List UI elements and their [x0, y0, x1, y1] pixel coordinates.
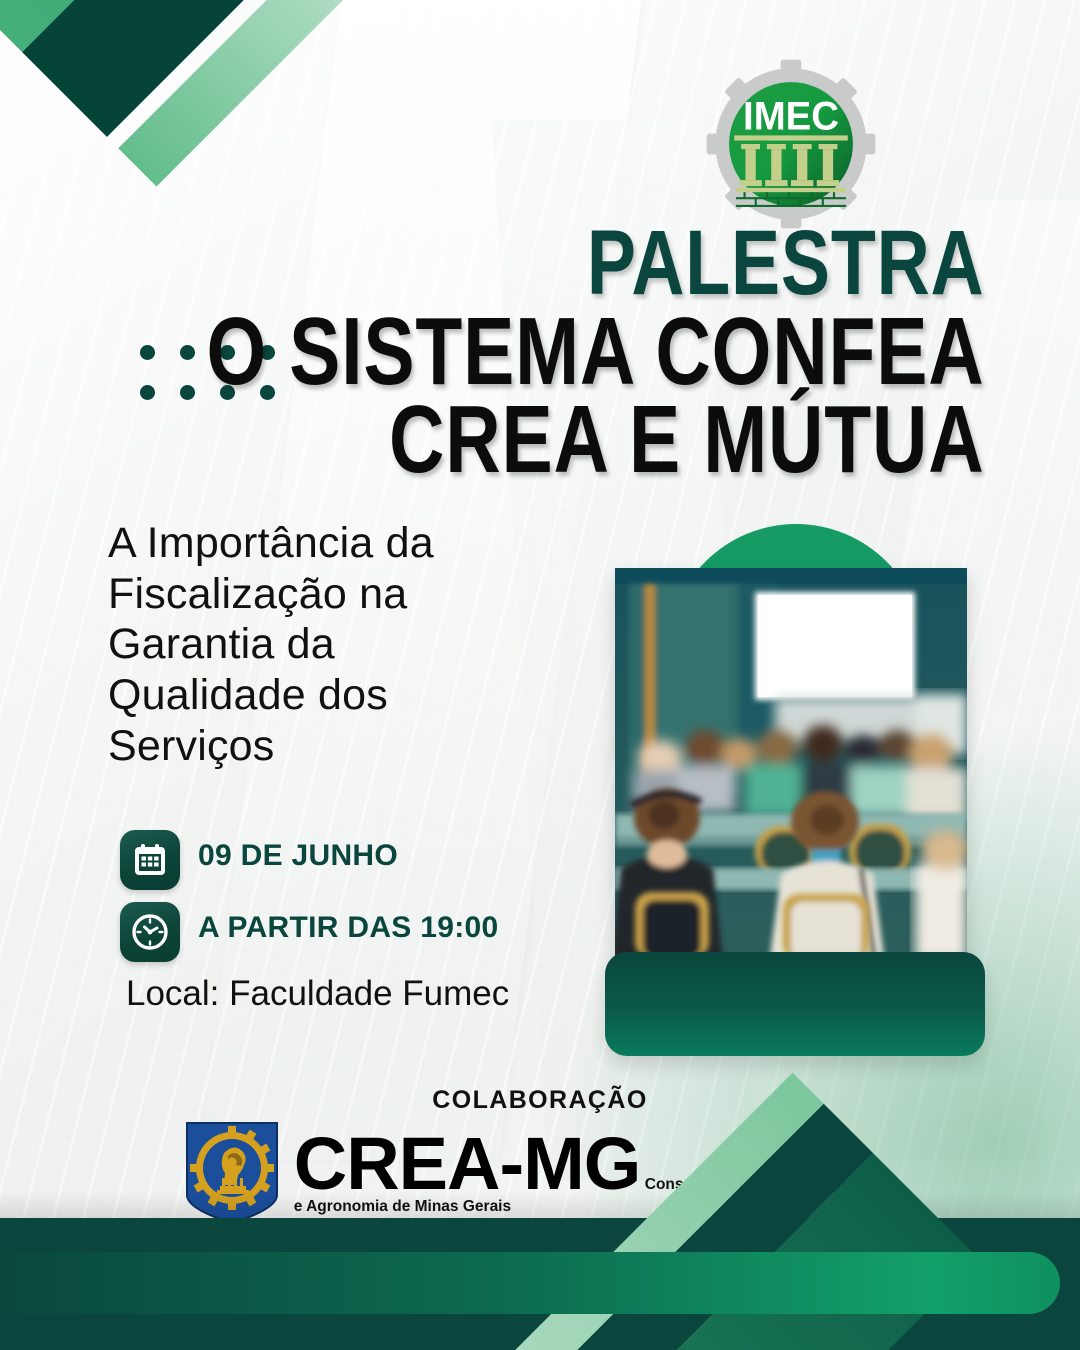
event-subtitle: A Importância da Fiscalização na Garanti… — [108, 518, 538, 772]
poster-canvas: IMEC PALESTRA O SISTEMA CONFEA C — [0, 0, 1080, 1350]
event-time-text: A PARTIR DAS 19:00 — [198, 902, 498, 945]
photo-green-bar — [605, 952, 985, 1056]
bottom-green-bar — [0, 1252, 1060, 1314]
headline-line-1: PALESTRA — [206, 222, 984, 305]
headline-line-2: O SISTEMA CONFEA — [206, 309, 984, 395]
event-date-row: 09 DE JUNHO — [120, 830, 509, 890]
calendar-icon — [120, 830, 180, 890]
event-time-row: A PARTIR DAS 19:00 — [120, 902, 509, 962]
collaboration-label: COLABORAÇÃO — [0, 1086, 1080, 1115]
svg-text:IMEC: IMEC — [743, 95, 839, 139]
event-info-block: 09 DE JUNHO A PARTIR DAS 19:00 — [120, 830, 509, 1014]
event-location-text: Local: Faculdade Fumec — [126, 974, 509, 1014]
clock-icon — [120, 902, 180, 962]
imec-gear-logo: IMEC — [705, 58, 877, 230]
headline-block: PALESTRA O SISTEMA CONFEA CREA E MÚTUA — [12, 222, 984, 484]
headline-line-3: CREA E MÚTUA — [206, 397, 984, 483]
conference-audience-photo — [615, 568, 967, 962]
event-date-text: 09 DE JUNHO — [198, 830, 398, 873]
